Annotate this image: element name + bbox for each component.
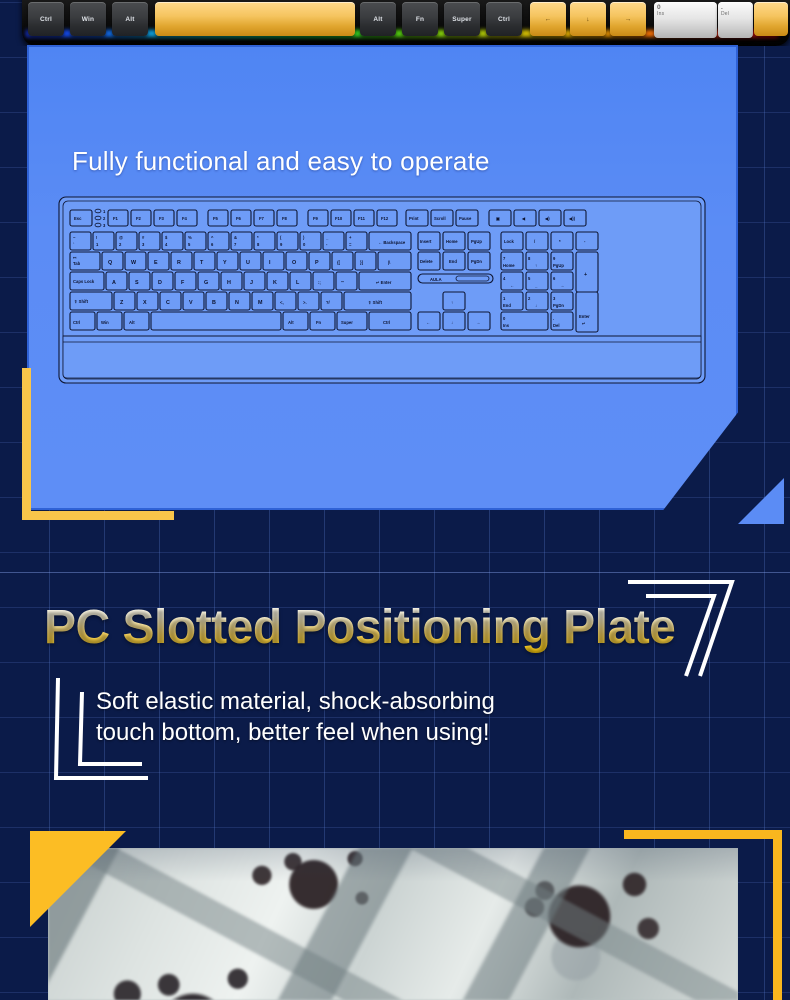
svg-text:%: %: [188, 235, 192, 240]
svg-text:Print: Print: [409, 216, 419, 221]
svg-text:←: ←: [510, 283, 514, 288]
key-numpad-zero: 0 Ins: [654, 2, 717, 38]
plate-photo: [48, 848, 738, 1000]
key-arrow-left: ←: [530, 2, 566, 36]
svg-text:F11: F11: [358, 216, 366, 221]
svg-text:Insert: Insert: [420, 239, 432, 244]
bracket-horizontal-bar: [22, 511, 174, 520]
svg-text:F9: F9: [313, 216, 319, 221]
plate-photo-vignette: [48, 848, 738, 1000]
svg-text:F6: F6: [236, 216, 242, 221]
key-super: Super: [444, 2, 480, 36]
svg-text:◀)): ◀)): [568, 216, 576, 221]
svg-text:H: H: [227, 280, 231, 286]
svg-text:F5: F5: [213, 216, 219, 221]
svg-text:Super: Super: [341, 320, 353, 325]
svg-text:P: P: [315, 260, 319, 266]
svg-text:PgDn: PgDn: [471, 259, 482, 264]
svg-text:C: C: [166, 300, 170, 306]
svg-text:↑: ↑: [535, 263, 537, 268]
svg-text:@: @: [119, 235, 123, 240]
key-alt-left: Alt: [112, 2, 148, 36]
svg-text:R: R: [177, 260, 181, 266]
feature-title: PC Slotted Positioning Plate: [44, 600, 675, 655]
svg-text:E: E: [154, 260, 158, 266]
svg-text:D: D: [158, 280, 162, 286]
svg-text:&: &: [234, 235, 237, 240]
bracket-top-bar: [624, 830, 782, 839]
svg-text:Pause: Pause: [459, 216, 472, 221]
svg-text:J: J: [250, 280, 253, 286]
svg-text:End: End: [503, 303, 511, 308]
svg-text:Ins: Ins: [503, 323, 510, 328]
svg-text:Y: Y: [223, 260, 227, 266]
svg-text:Alt: Alt: [129, 320, 135, 325]
svg-text:Ctrl: Ctrl: [73, 320, 80, 325]
keyboard-photo-strip: Ctrl Win Alt Alt Fn Super Ctrl ← ↓ → 0 I…: [0, 0, 790, 46]
svg-text:Home: Home: [446, 239, 458, 244]
svg-text:Win: Win: [101, 320, 109, 325]
key-numpad-enter: [754, 2, 788, 36]
svg-text:Home: Home: [503, 263, 515, 268]
svg-text:Lock: Lock: [504, 239, 514, 244]
svg-text:⇧ Shift: ⇧ Shift: [74, 299, 89, 304]
key-spacebar: [155, 2, 355, 36]
svg-text:F3: F3: [159, 216, 165, 221]
svg-text:N: N: [235, 300, 239, 306]
svg-text:↓: ↓: [535, 303, 537, 308]
svg-text:↵ Enter: ↵ Enter: [376, 280, 392, 285]
key-arrow-down: ↓: [570, 2, 606, 36]
svg-text:Caps Lock: Caps Lock: [73, 279, 95, 284]
svg-text:Q: Q: [108, 260, 112, 266]
svg-text:Del: Del: [553, 323, 560, 328]
key-arrow-right: →: [610, 2, 646, 36]
svg-text:O: O: [292, 260, 296, 266]
svg-text:<,: <,: [280, 300, 284, 305]
svg-text:U: U: [246, 260, 250, 266]
key-ctrl-left: Ctrl: [28, 2, 64, 36]
svg-text:⇧ Shift: ⇧ Shift: [368, 300, 383, 305]
svg-text:◀): ◀): [544, 216, 550, 221]
svg-text:F10: F10: [335, 216, 343, 221]
key-win: Win: [70, 2, 106, 36]
svg-text:Tab: Tab: [73, 261, 81, 266]
white-bracket-left: [52, 676, 156, 789]
svg-text:M: M: [258, 300, 263, 306]
svg-text:V: V: [189, 300, 193, 306]
svg-text:F1: F1: [113, 216, 119, 221]
bracket-right-bar: [773, 830, 782, 1000]
svg-text:↵: ↵: [582, 321, 586, 326]
svg-text:PgUp: PgUp: [553, 263, 564, 268]
svg-text:K: K: [273, 280, 277, 286]
svg-text:Esc: Esc: [74, 216, 82, 221]
grid-highlight-line: [0, 572, 790, 573]
svg-text:F7: F7: [259, 216, 265, 221]
svg-text:PgUp: PgUp: [471, 239, 482, 244]
svg-text:F2: F2: [136, 216, 142, 221]
panel-title: Fully functional and easy to operate: [72, 146, 490, 177]
key-numpad-zero-label: 0: [657, 4, 661, 11]
svg-text:→: →: [476, 320, 480, 325]
bracket-vertical-bar: [22, 368, 31, 520]
svg-text:AULA: AULA: [430, 277, 442, 282]
svg-text:▣: ▣: [496, 216, 500, 221]
svg-text:Scroll: Scroll: [434, 216, 446, 221]
product-detail-page: Ctrl Win Alt Alt Fn Super Ctrl ← ↓ → 0 I…: [0, 0, 790, 1000]
key-fn: Fn: [402, 2, 438, 36]
svg-text:F4: F4: [182, 216, 188, 221]
svg-text:↑: ↑: [451, 300, 453, 305]
svg-text:↓: ↓: [451, 320, 453, 325]
svg-text:"': "': [341, 280, 344, 285]
key-numpad-dot-sublabel: Del: [721, 11, 729, 17]
svg-text:Alt: Alt: [288, 320, 294, 325]
svg-text:Enter: Enter: [579, 314, 590, 319]
key-alt-right: Alt: [360, 2, 396, 36]
svg-text:G: G: [204, 280, 208, 286]
svg-text:→: →: [560, 283, 564, 288]
svg-text:↤: ↤: [73, 255, 77, 260]
key-ctrl-right: Ctrl: [486, 2, 522, 36]
white-bracket-right: [624, 576, 740, 685]
yellow-triangle-accent: [30, 831, 126, 927]
svg-text:F8: F8: [282, 216, 288, 221]
svg-text:← Backspace: ← Backspace: [378, 240, 406, 245]
svg-text:>.: >.: [303, 300, 307, 305]
svg-text:B: B: [212, 300, 216, 306]
svg-text:A: A: [112, 280, 116, 286]
svg-text:Ctrl: Ctrl: [383, 320, 390, 325]
svg-text:.: .: [553, 316, 554, 321]
key-numpad-dot-label: .: [721, 4, 723, 11]
svg-text::;: :;: [318, 280, 321, 285]
svg-text:←: ←: [426, 320, 430, 325]
svg-text:+: +: [584, 272, 587, 278]
svg-text:Fn: Fn: [316, 320, 322, 325]
panel-corner-triangle: [738, 478, 784, 524]
svg-text:!: !: [96, 235, 97, 240]
svg-text:F12: F12: [381, 216, 389, 221]
keyboard-layout-diagram: .kc{fill:#6e9cf7;stroke:#0e1633;stroke-w…: [58, 196, 706, 391]
svg-text:S: S: [135, 280, 139, 286]
svg-text:PgDn: PgDn: [553, 303, 564, 308]
svg-text:End: End: [449, 259, 457, 264]
key-numpad-zero-sublabel: Ins: [657, 11, 664, 17]
svg-text:Delete: Delete: [420, 259, 433, 264]
svg-text:X: X: [143, 300, 147, 306]
key-numpad-dot: . Del: [718, 2, 753, 38]
